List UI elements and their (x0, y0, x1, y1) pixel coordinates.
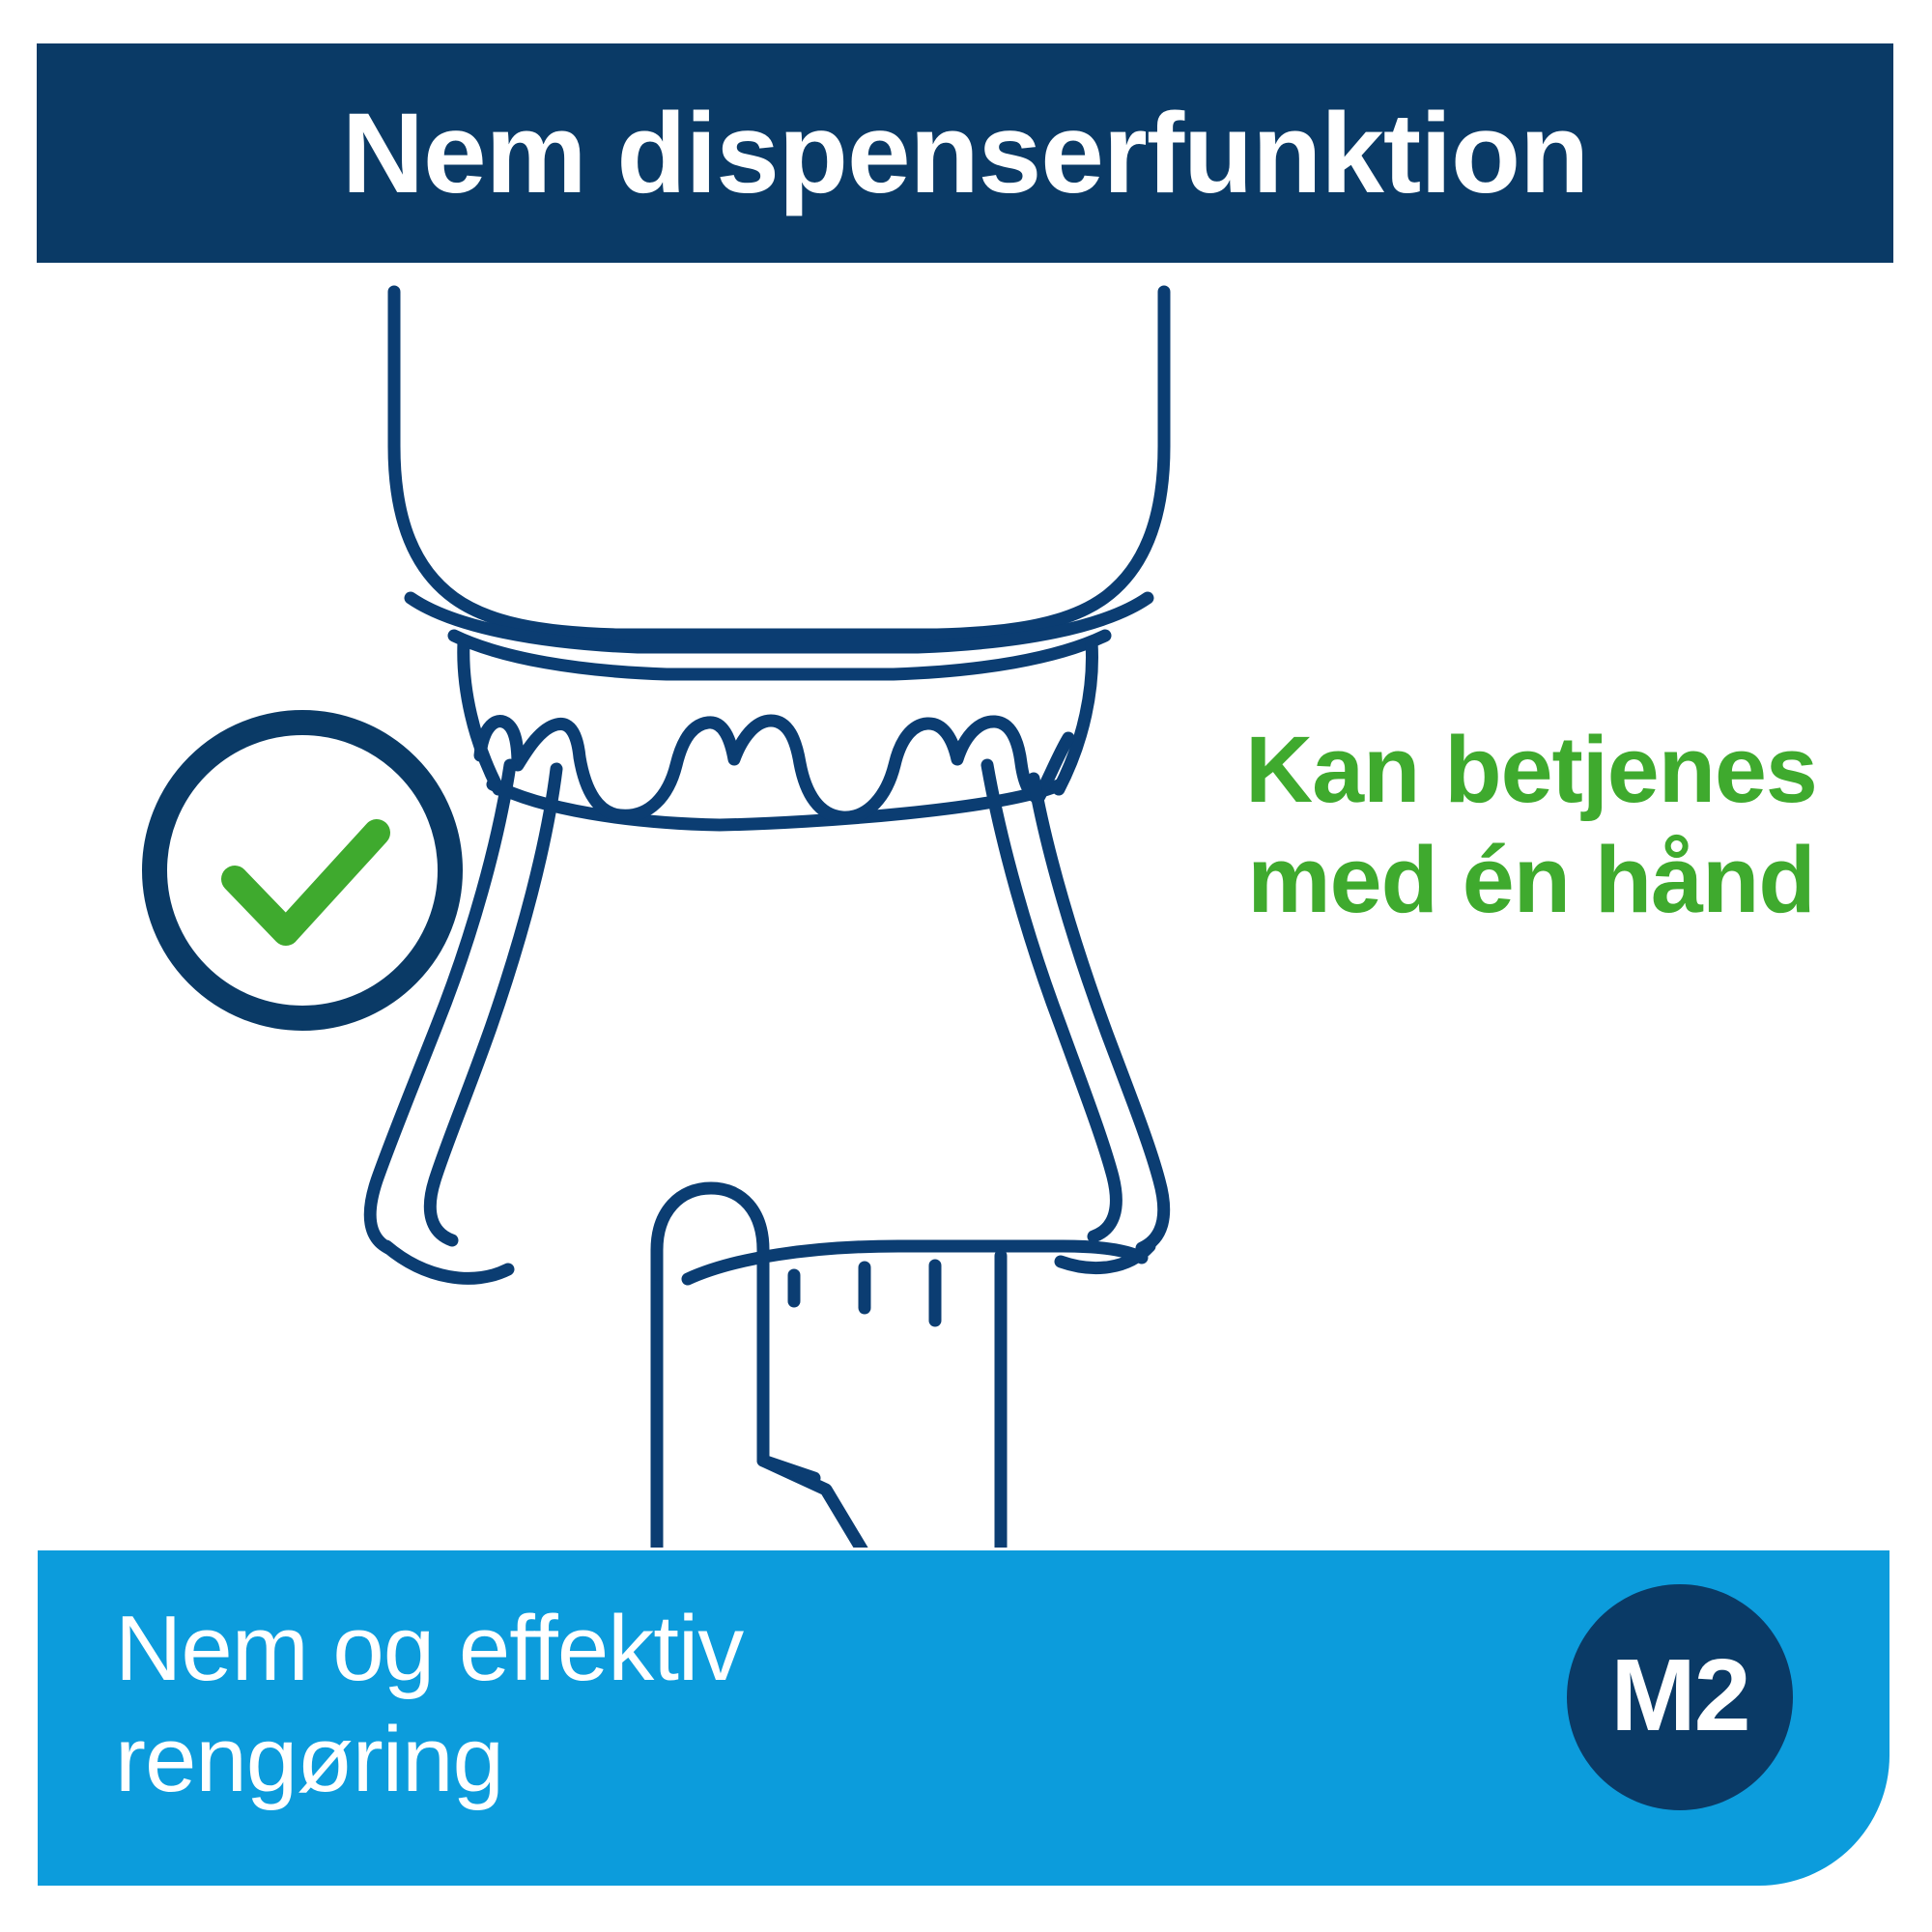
page-title: Nem dispenserfunktion (342, 97, 1588, 211)
footer-tagline-line-1: Nem og effektiv (115, 1593, 743, 1704)
poster-canvas: Nem dispenserfunktion (0, 0, 1932, 1932)
feature-callout-line-2: med én hånd (1164, 825, 1898, 935)
feature-callout: Kan betjenes med én hånd (1164, 715, 1898, 936)
hand-thumb-crease (763, 1461, 814, 1478)
check-circle-ring (155, 723, 450, 1018)
header-banner: Nem dispenserfunktion (37, 43, 1893, 263)
paper-towel-left-bottom (386, 1246, 508, 1278)
hand-fist-outline (657, 1287, 729, 1548)
dispenser-nozzle-left (464, 642, 498, 789)
dispenser-body-outline (394, 292, 1164, 635)
dispenser-nozzle-base (493, 784, 1061, 825)
footer-tagline: Nem og effektiv rengøring (115, 1593, 743, 1815)
feature-callout-line-1: Kan betjenes (1164, 715, 1898, 825)
check-circle-icon (155, 723, 450, 1018)
check-mark-icon (235, 833, 377, 932)
m2-badge: M2 (1567, 1584, 1793, 1810)
dispenser-nozzle-right (1059, 642, 1092, 789)
footer-tagline-line-2: rengøring (115, 1704, 743, 1815)
hand-fist-right-outline (937, 1256, 1001, 1548)
m2-badge-label: M2 (1610, 1644, 1748, 1747)
